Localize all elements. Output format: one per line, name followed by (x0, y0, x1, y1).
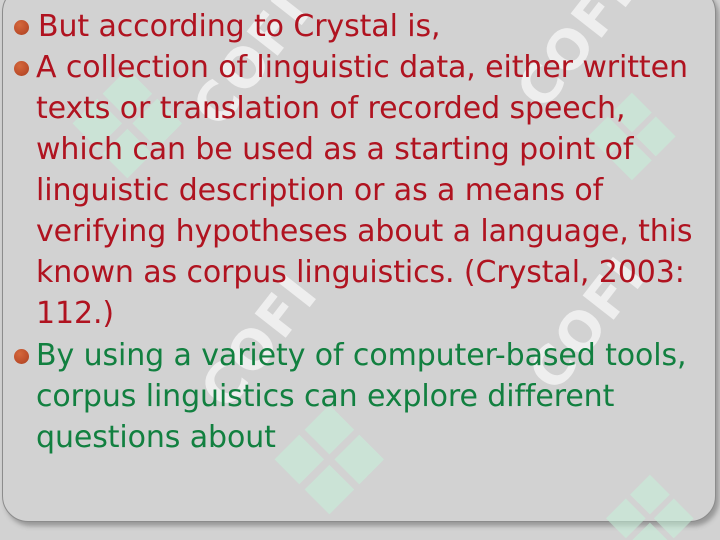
list-item[interactable]: But according to Crystal is, (8, 6, 706, 47)
slide-canvas: ❖ ❖ ❖ ❖ COFI COFI COFI COFI But accordin… (0, 0, 720, 540)
list-item[interactable]: By using a variety of computer-based too… (8, 335, 706, 458)
slide-body-text: But according to Crystal is, A collectio… (0, 0, 720, 458)
bullet-dot-icon (14, 349, 29, 364)
list-item-label: But according to Crystal is, (36, 6, 706, 47)
list-item-label: A collection of linguistic data, either … (36, 47, 706, 334)
list-item-label: By using a variety of computer-based too… (36, 335, 706, 458)
bullet-dot-icon (14, 61, 29, 76)
list-item[interactable]: A collection of linguistic data, either … (8, 47, 706, 334)
bullet-dot-icon (14, 20, 29, 35)
